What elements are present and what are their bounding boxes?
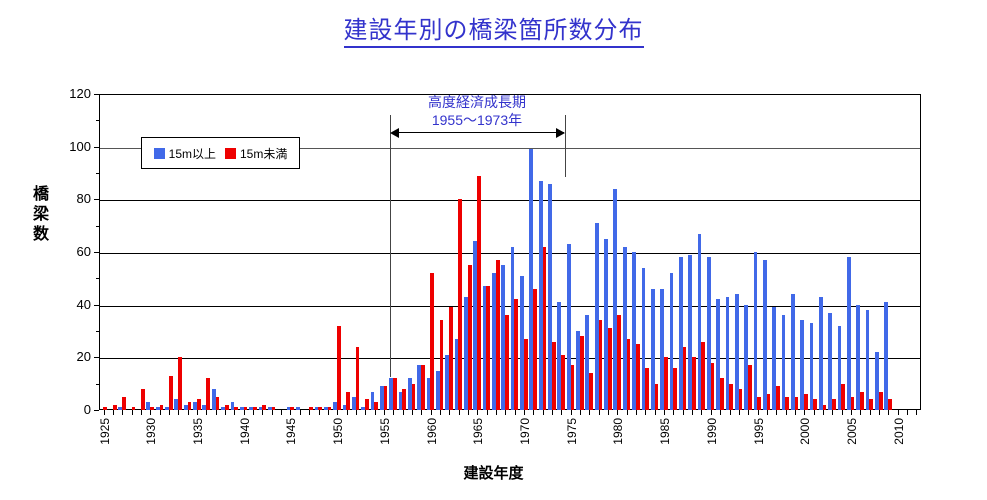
x-tick-label-1975: 1975: [565, 418, 579, 445]
x-tick-1934: [188, 410, 189, 415]
x-tick-label-1995: 1995: [752, 418, 766, 445]
bar-red-1961: [440, 320, 444, 410]
x-tick-1982: [636, 410, 637, 415]
x-tick-label-1960: 1960: [425, 418, 439, 445]
x-tick-1929: [141, 410, 142, 415]
x-tick-1960: [431, 410, 432, 415]
bar-red-1932: [169, 376, 173, 410]
bar-red-1978: [599, 320, 603, 410]
legend[interactable]: 15m以上15m未満: [141, 137, 300, 169]
bar-red-2006: [860, 392, 864, 410]
x-tick-1940: [244, 410, 245, 415]
x-tick-1948: [319, 410, 320, 415]
bar-red-1929: [141, 389, 145, 410]
bar-red-1987: [683, 347, 687, 410]
x-tick-2003: [832, 410, 833, 415]
x-tick-1993: [739, 410, 740, 415]
x-tick-1931: [160, 410, 161, 415]
x-tick-label-1965: 1965: [471, 418, 485, 445]
bar-red-1966: [486, 286, 490, 410]
bar-red-1965: [477, 176, 481, 410]
bar-red-2001: [813, 399, 817, 410]
x-tick-2008: [879, 410, 880, 415]
bar-red-2008: [879, 392, 883, 410]
y-tick-label-40: 40: [51, 297, 91, 312]
x-tick-1943: [272, 410, 273, 415]
bar-red-1983: [645, 368, 649, 410]
x-tick-2010: [898, 410, 899, 415]
x-tick-1961: [440, 410, 441, 415]
x-tick-label-2000: 2000: [798, 418, 812, 445]
bar-red-1968: [505, 315, 509, 410]
bar-red-1988: [692, 357, 696, 410]
bar-red-2003: [832, 399, 836, 410]
bar-red-1981: [627, 339, 631, 410]
y-tick-label-20: 20: [51, 349, 91, 364]
bar-red-1971: [533, 289, 537, 410]
legend-label-0: 15m以上: [169, 145, 216, 162]
x-tick-1996: [767, 410, 768, 415]
annotation-line-1: 高度経済成長期: [367, 94, 587, 112]
bar-red-1996: [767, 394, 771, 410]
bar-red-1977: [589, 373, 593, 410]
x-tick-1930: [150, 410, 151, 415]
x-tick-1962: [449, 410, 450, 415]
x-tick-1946: [300, 410, 301, 415]
x-tick-1963: [459, 410, 460, 415]
bar-red-1973: [552, 342, 556, 410]
x-tick-1998: [786, 410, 787, 415]
y-tick-60: [94, 252, 99, 253]
x-tick-1971: [533, 410, 534, 415]
x-tick-1954: [375, 410, 376, 415]
bar-blue-2005: [847, 257, 851, 410]
x-tick-1955: [384, 410, 385, 415]
bar-red-1957: [402, 389, 406, 410]
bar-red-1958: [412, 384, 416, 410]
x-tick-2006: [860, 410, 861, 415]
x-tick-2002: [823, 410, 824, 415]
x-tick-1987: [683, 410, 684, 415]
bar-red-1989: [701, 342, 705, 410]
x-tick-label-1930: 1930: [144, 418, 158, 445]
bar-red-1976: [580, 336, 584, 410]
x-axis-title-text: 建設年度: [463, 465, 523, 482]
legend-label-1: 15m未満: [240, 145, 287, 162]
x-tick-1991: [720, 410, 721, 415]
x-tick-1959: [421, 410, 422, 415]
annotation-start-line: [390, 115, 391, 377]
x-tick-1953: [365, 410, 366, 415]
x-tick-1942: [262, 410, 263, 415]
y-axis-title: 橋梁数: [30, 185, 52, 245]
bar-red-1933: [178, 357, 182, 410]
bar-red-1986: [673, 368, 677, 410]
bar-blue-2002: [819, 297, 823, 410]
x-tick-1932: [169, 410, 170, 415]
bar-red-1980: [617, 315, 621, 410]
x-tick-label-1990: 1990: [705, 418, 719, 445]
x-tick-2001: [814, 410, 815, 415]
bar-red-1990: [711, 363, 715, 410]
x-tick-label-1985: 1985: [658, 418, 672, 445]
x-tick-1969: [515, 410, 516, 415]
x-tick-1938: [225, 410, 226, 415]
x-tick-2004: [842, 410, 843, 415]
x-tick-1974: [561, 410, 562, 415]
x-tick-2011: [907, 410, 908, 415]
x-tick-1927: [122, 410, 123, 415]
bar-red-1967: [496, 260, 500, 410]
x-tick-1973: [552, 410, 553, 415]
bar-red-2005: [851, 397, 855, 410]
bar-red-1998: [785, 397, 789, 410]
x-tick-1976: [580, 410, 581, 415]
x-tick-label-1925: 1925: [98, 418, 112, 445]
x-tick-1925: [104, 410, 105, 415]
bar-red-1935: [197, 399, 201, 410]
y-tick-label-0: 0: [51, 402, 91, 417]
x-tick-label-2010: 2010: [892, 418, 906, 445]
x-tick-label-1980: 1980: [611, 418, 625, 445]
chart-root: 建設年別の橋梁箇所数分布 020406080100120 橋梁数 1925193…: [0, 0, 987, 500]
y-tick-label-100: 100: [51, 139, 91, 154]
bar-red-1985: [664, 357, 668, 410]
y-tick-0: [94, 410, 99, 411]
legend-swatch-icon-1: [225, 148, 236, 159]
x-tick-2007: [870, 410, 871, 415]
x-tick-1981: [627, 410, 628, 415]
x-tick-1989: [701, 410, 702, 415]
x-tick-1958: [412, 410, 413, 415]
y-tick-40: [94, 305, 99, 306]
x-tick-1926: [113, 410, 114, 415]
x-tick-1995: [758, 410, 759, 415]
bar-blue-1999: [791, 294, 795, 410]
x-tick-1985: [664, 410, 665, 415]
bar-red-1954: [374, 402, 378, 410]
x-tick-1994: [748, 410, 749, 415]
bar-red-1951: [346, 392, 350, 410]
y-tick-20: [94, 357, 99, 358]
x-tick-1957: [403, 410, 404, 415]
bar-red-1992: [729, 384, 733, 410]
y-tick-label-120: 120: [51, 86, 91, 101]
bar-red-2009: [888, 399, 892, 410]
x-tick-1936: [206, 410, 207, 415]
y-tick-label-80: 80: [51, 191, 91, 206]
x-tick-1992: [730, 410, 731, 415]
bar-blue-2007: [866, 310, 870, 410]
bar-red-1975: [571, 365, 575, 410]
x-tick-1979: [608, 410, 609, 415]
x-tick-1965: [477, 410, 478, 415]
x-tick-1983: [645, 410, 646, 415]
bar-red-1972: [543, 247, 547, 410]
y-tick-50: [96, 278, 99, 279]
bar-blue-2009: [884, 302, 888, 410]
x-tick-1947: [309, 410, 310, 415]
x-tick-1949: [328, 410, 329, 415]
bar-red-1995: [757, 397, 761, 410]
y-tick-70: [96, 226, 99, 227]
x-tick-2000: [804, 410, 805, 415]
x-tick-1941: [253, 410, 254, 415]
x-tick-label-1935: 1935: [191, 418, 205, 445]
annotation-arrow-head-right: [556, 128, 565, 138]
bar-red-2000: [804, 394, 808, 410]
x-tick-1988: [692, 410, 693, 415]
bar-blue-2001: [810, 323, 814, 410]
x-tick-1950: [337, 410, 338, 415]
y-tick-110: [96, 120, 99, 121]
bar-red-1974: [561, 355, 565, 410]
bar-red-1999: [795, 397, 799, 410]
x-tick-1970: [524, 410, 525, 415]
annotation-arrow-line: [392, 132, 564, 133]
bar-blue-2003: [828, 313, 832, 410]
x-tick-2005: [851, 410, 852, 415]
legend-item-1[interactable]: 15m未満: [225, 145, 287, 162]
bar-red-1950: [337, 326, 341, 410]
bar-red-1984: [655, 384, 659, 410]
annotation-end-line: [565, 115, 566, 177]
bar-red-1959: [421, 365, 425, 410]
y-tick-10: [96, 384, 99, 385]
bar-red-1991: [720, 378, 724, 410]
legend-item-0[interactable]: 15m以上: [154, 145, 216, 162]
x-tick-1990: [711, 410, 712, 415]
y-tick-label-60: 60: [51, 244, 91, 259]
y-axis-ticks: [99, 94, 100, 410]
bar-red-1936: [206, 378, 210, 410]
x-tick-label-1950: 1950: [331, 418, 345, 445]
bar-blue-1998: [782, 315, 786, 410]
x-tick-1986: [673, 410, 674, 415]
x-tick-1928: [132, 410, 133, 415]
annotation-arrow-head-left: [390, 128, 399, 138]
x-tick-1933: [178, 410, 179, 415]
x-tick-1956: [393, 410, 394, 415]
x-tick-1977: [589, 410, 590, 415]
x-tick-1945: [290, 410, 291, 415]
bar-red-1969: [514, 299, 518, 410]
x-tick-1951: [347, 410, 348, 415]
y-tick-80: [94, 199, 99, 200]
bar-red-1979: [608, 328, 612, 410]
legend-swatch-icon-0: [154, 148, 165, 159]
x-tick-1939: [234, 410, 235, 415]
y-tick-90: [96, 173, 99, 174]
bar-red-2007: [869, 399, 873, 410]
bar-red-2004: [841, 384, 845, 410]
x-tick-label-1940: 1940: [238, 418, 252, 445]
bar-red-1970: [524, 339, 528, 410]
x-tick-1944: [281, 410, 282, 415]
x-tick-1964: [468, 410, 469, 415]
y-axis-title-text: 橋梁数: [33, 186, 49, 243]
bar-blue-1995: [754, 252, 758, 410]
bar-red-1952: [356, 347, 360, 410]
x-tick-1935: [197, 410, 198, 415]
x-tick-1984: [655, 410, 656, 415]
y-tick-30: [96, 331, 99, 332]
x-tick-1966: [487, 410, 488, 415]
bar-blue-1996: [763, 260, 767, 410]
x-tick-2009: [888, 410, 889, 415]
bar-red-1937: [216, 397, 220, 410]
bar-red-1993: [739, 389, 743, 410]
x-tick-1937: [216, 410, 217, 415]
bar-red-1953: [365, 399, 369, 410]
x-tick-1972: [543, 410, 544, 415]
x-tick-1975: [571, 410, 572, 415]
bar-red-1956: [393, 378, 397, 410]
x-tick-1980: [617, 410, 618, 415]
annotation-line-2: 1955〜1973年: [367, 112, 587, 130]
bar-red-1934: [188, 402, 192, 410]
x-tick-1997: [776, 410, 777, 415]
bar-red-1962: [449, 307, 453, 410]
bar-red-1964: [468, 265, 472, 410]
x-axis-title: 建設年度: [0, 462, 987, 483]
y-tick-120: [94, 94, 99, 95]
page-title-text: 建設年別の橋梁箇所数分布: [344, 17, 644, 48]
x-tick-1952: [356, 410, 357, 415]
x-tick-label-1945: 1945: [284, 418, 298, 445]
annotation-label: 高度経済成長期 1955〜1973年: [367, 94, 587, 130]
bar-red-1955: [384, 386, 388, 410]
bar-red-1997: [776, 386, 780, 410]
bar-red-1982: [636, 344, 640, 410]
x-tick-1978: [599, 410, 600, 415]
y-tick-100: [94, 147, 99, 148]
x-tick-label-2005: 2005: [845, 418, 859, 445]
x-tick-1967: [496, 410, 497, 415]
x-tick-2012: [916, 410, 917, 415]
x-tick-label-1955: 1955: [378, 418, 392, 445]
bar-red-1963: [458, 199, 462, 410]
x-tick-label-1970: 1970: [518, 418, 532, 445]
page-title: 建設年別の橋梁箇所数分布: [0, 10, 987, 45]
bar-red-1994: [748, 365, 752, 410]
x-tick-1968: [505, 410, 506, 415]
bar-red-1927: [122, 397, 126, 410]
bar-red-1960: [430, 273, 434, 410]
x-tick-1999: [795, 410, 796, 415]
